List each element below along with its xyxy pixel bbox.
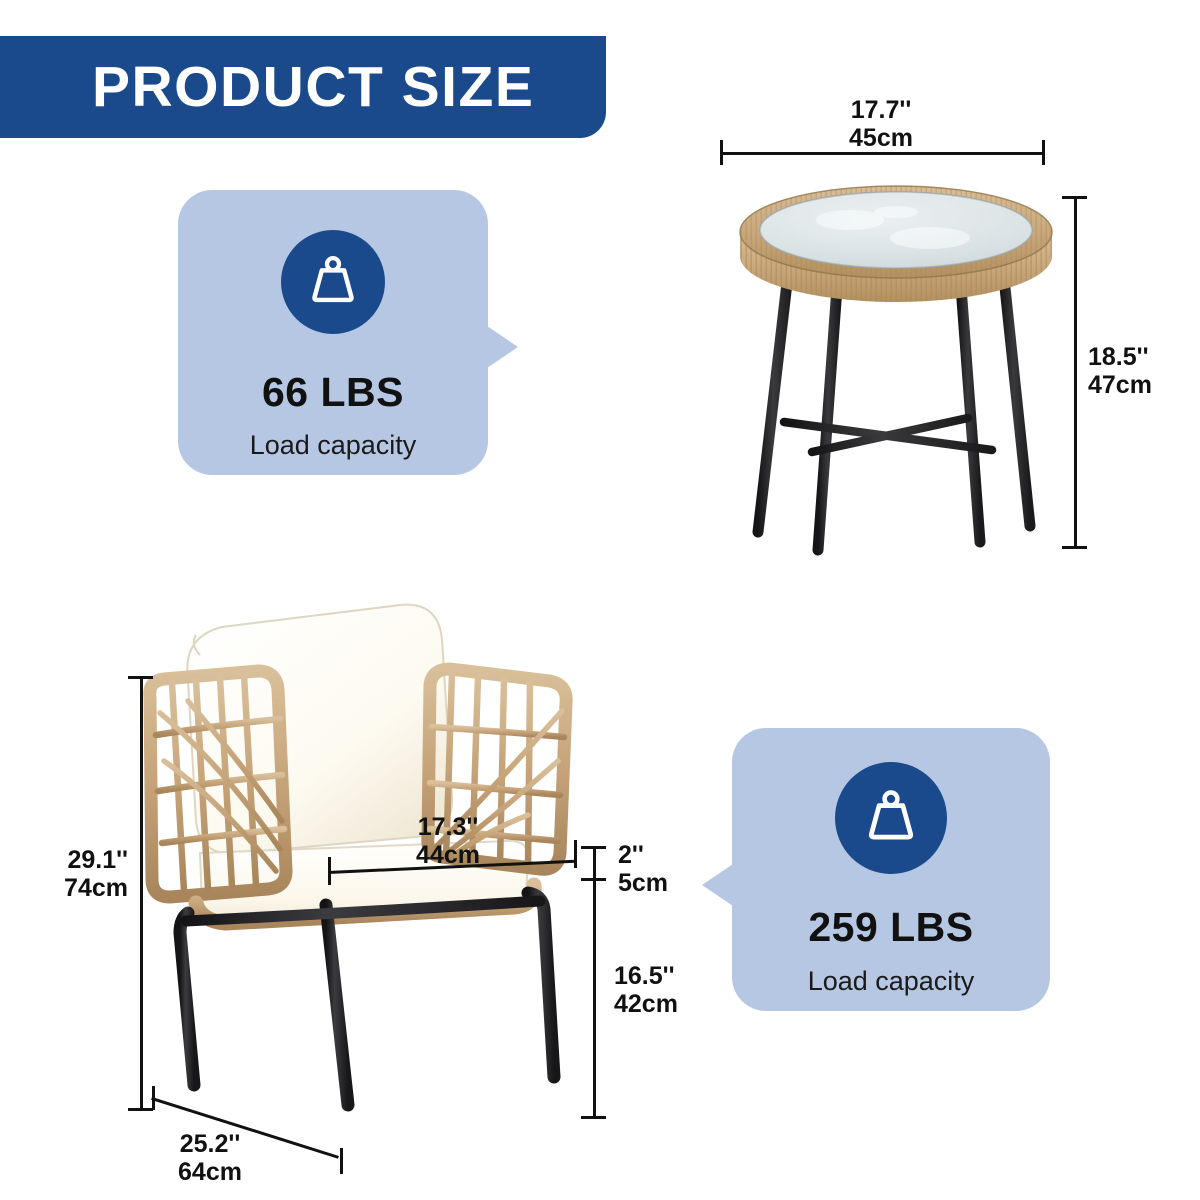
dimension-cap-left — [328, 857, 331, 885]
dimension-value-inch: 29.1'' — [56, 846, 128, 874]
dimension-label-seat-width: 17.3'' 44cm — [378, 813, 518, 869]
dimension-label-table-width: 17.7'' 45cm — [806, 96, 956, 152]
weight-icon — [835, 762, 947, 874]
dimension-cap-top — [1062, 196, 1087, 199]
dimension-cap-top — [581, 846, 606, 849]
callout-label: Load capacity — [808, 968, 975, 995]
weight-icon — [281, 230, 385, 334]
dimension-cap-right — [574, 840, 577, 868]
dimension-value-inch: 17.3'' — [378, 813, 518, 841]
dimension-label-seat-height: 16.5'' 42cm — [614, 962, 678, 1018]
page-title: PRODUCT SIZE — [92, 54, 534, 120]
dimension-value-cm: 42cm — [614, 990, 678, 1018]
side-table-illustration — [700, 160, 1100, 570]
callout-value: 66 LBS — [262, 372, 404, 413]
callout-tail-left — [702, 864, 733, 906]
dimension-cap-bottom — [581, 1116, 606, 1119]
dimension-value-inch: 16.5'' — [614, 962, 678, 990]
dimension-value-inch: 25.2'' — [140, 1130, 280, 1158]
dimension-cap-bottom — [1062, 546, 1087, 549]
dimension-cap-bottom — [128, 1108, 153, 1111]
dimension-value-cm: 47cm — [1088, 371, 1152, 399]
dimension-line-cushion-thickness — [593, 846, 596, 878]
dimension-line-chair-height — [140, 676, 143, 1108]
dimension-line-seat-height — [593, 878, 596, 1116]
dimension-value-cm: 74cm — [56, 874, 128, 902]
dimension-value-cm: 44cm — [378, 841, 518, 869]
dimension-label-chair-height: 29.1'' 74cm — [56, 846, 128, 902]
dimension-label-table-height: 18.5'' 47cm — [1088, 343, 1152, 399]
dimension-label-chair-width: 25.2'' 64cm — [140, 1130, 280, 1186]
dimension-cap-right — [340, 1148, 343, 1174]
dimension-cap-top — [128, 676, 153, 679]
dimension-cap-left — [152, 1086, 155, 1110]
dimension-value-cm: 64cm — [140, 1158, 280, 1186]
callout-table-capacity: 66 LBS Load capacity — [178, 190, 488, 475]
callout-label: Load capacity — [250, 432, 417, 459]
callout-value: 259 LBS — [808, 907, 973, 948]
armchair-illustration — [130, 585, 600, 1145]
dimension-cap-right — [1042, 140, 1045, 165]
dimension-cap-left — [720, 140, 723, 165]
dimension-value-inch: 17.7'' — [806, 96, 956, 124]
callout-chair-capacity: 259 LBS Load capacity — [732, 728, 1050, 1011]
dimension-value-inch: 18.5'' — [1088, 343, 1152, 371]
dimension-value-cm: 5cm — [618, 869, 668, 897]
dimension-value-cm: 45cm — [806, 124, 956, 152]
callout-tail-right — [487, 326, 518, 368]
dimension-label-cushion-thickness: 2'' 5cm — [618, 841, 668, 897]
dimension-line-table-width — [720, 152, 1042, 155]
dimension-value-inch: 2'' — [618, 841, 668, 869]
page-header-banner: PRODUCT SIZE — [0, 36, 606, 138]
dimension-line-table-height — [1074, 196, 1077, 546]
